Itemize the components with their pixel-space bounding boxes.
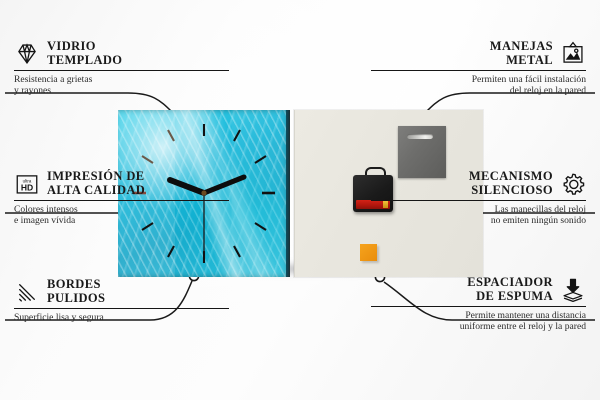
feature-impresion-alta-calidad: ultra HD IMPRESIÓN DE ALTA CALIDAD Color…: [14, 170, 229, 227]
feature-description: Las manecillas del reloj no emiten ningú…: [371, 204, 586, 227]
feature-header: BORDES PULIDOS: [14, 278, 229, 305]
feature-rule: [371, 306, 586, 307]
orange-foam-spacer: [360, 244, 377, 261]
feature-title: VIDRIO TEMPLADO: [47, 40, 122, 67]
keyhole-slot: [407, 134, 433, 139]
feature-description: Colores intensos e imagen vívida: [14, 204, 229, 227]
feature-espaciador-de-espuma: ESPACIADOR DE ESPUMA Permite mantener un…: [371, 276, 586, 333]
feature-header: MECANISMO SILENCIOSO: [371, 170, 586, 197]
feature-header: MANEJAS METAL: [371, 40, 586, 67]
diamond-icon: [14, 41, 40, 67]
polished-edges-icon: [14, 279, 40, 305]
feature-title: MANEJAS METAL: [490, 40, 553, 67]
feature-header: ESPACIADOR DE ESPUMA: [371, 276, 586, 303]
feature-description: Superficie lisa y segura: [14, 312, 229, 323]
gear-icon: [560, 171, 586, 197]
hanging-frame-icon: [560, 41, 586, 67]
feature-bordes-pulidos: BORDES PULIDOS Superficie lisa y segura: [14, 278, 229, 323]
ultra-hd-icon: ultra HD: [14, 171, 40, 197]
feature-rule: [371, 200, 586, 201]
feature-description: Permiten una fácil instalación del reloj…: [371, 74, 586, 97]
feature-manejas-metal: MANEJAS METAL Permiten una fácil instala…: [371, 40, 586, 97]
feature-rule: [14, 70, 229, 71]
feature-header: VIDRIO TEMPLADO: [14, 40, 229, 67]
feature-vidrio-templado: VIDRIO TEMPLADO Resistencia a grietas y …: [14, 40, 229, 97]
feature-description: Resistencia a grietas y rayones: [14, 74, 229, 97]
feature-title: ESPACIADOR DE ESPUMA: [467, 276, 553, 303]
feature-rule: [14, 308, 229, 309]
svg-text:HD: HD: [21, 182, 33, 192]
feature-mecanismo-silencioso: MECANISMO SILENCIOSO Las manecillas del …: [371, 170, 586, 227]
feature-header: ultra HD IMPRESIÓN DE ALTA CALIDAD: [14, 170, 229, 197]
feature-title: MECANISMO SILENCIOSO: [469, 170, 553, 197]
feature-rule: [371, 70, 586, 71]
feature-rule: [14, 200, 229, 201]
infographic-canvas: VIDRIO TEMPLADO Resistencia a grietas y …: [0, 0, 600, 400]
feature-title: IMPRESIÓN DE ALTA CALIDAD: [47, 170, 145, 197]
clock-side-edge: [286, 110, 290, 277]
feature-description: Permite mantener una distancia uniforme …: [371, 310, 586, 333]
foam-spacer-icon: [560, 277, 586, 303]
feature-title: BORDES PULIDOS: [47, 278, 105, 305]
